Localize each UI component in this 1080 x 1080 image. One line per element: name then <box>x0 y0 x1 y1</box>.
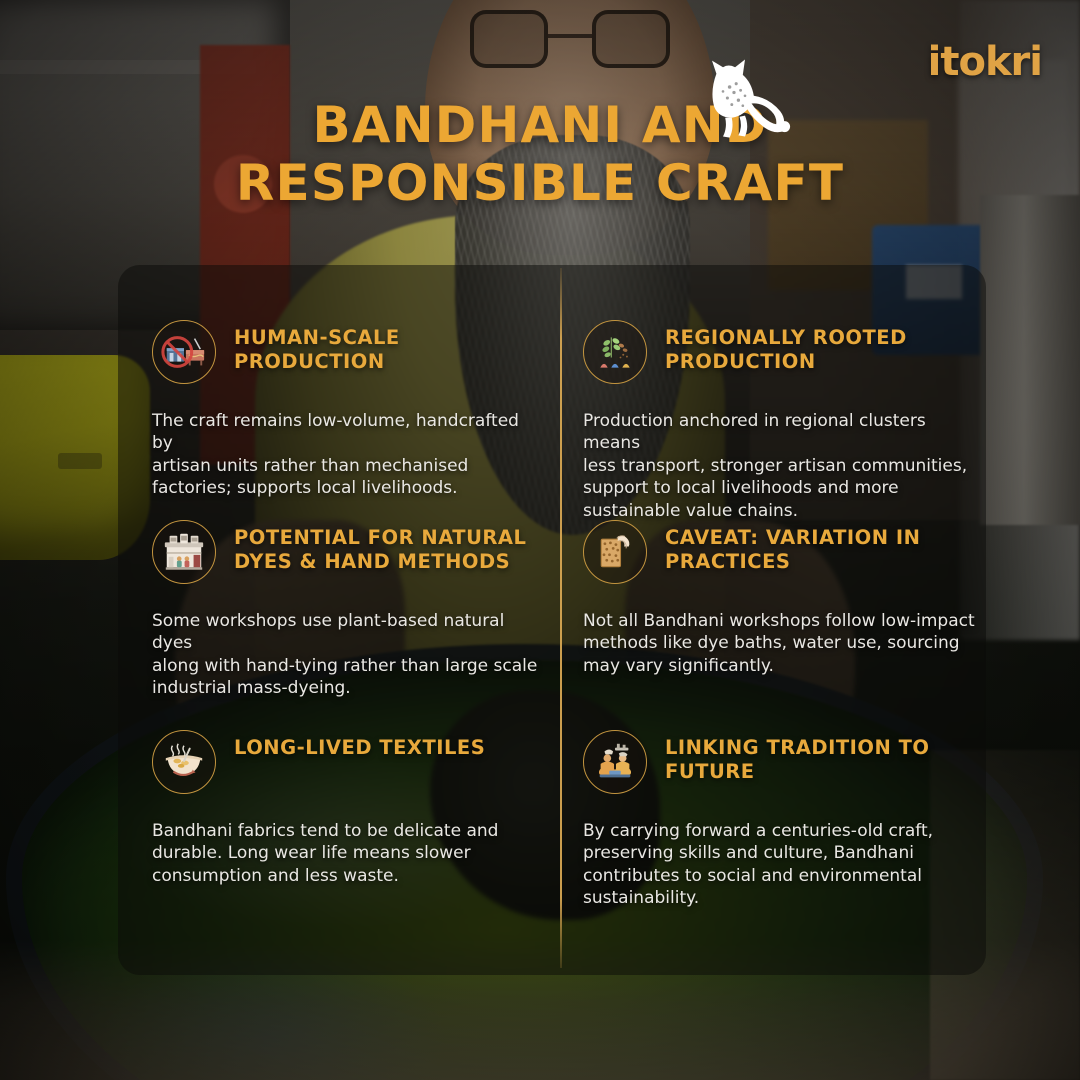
card-natural-dyes-hand-methods[interactable]: POTENTIAL FOR NATURAL DYES & HAND METHOD… <box>152 520 544 700</box>
card-linking-tradition-to-future[interactable]: LINKING TRADITION TO FUTURE By carrying … <box>583 730 995 910</box>
card-header: CAVEAT: VARIATION IN PRACTICES <box>583 520 995 584</box>
card-body: Some workshops use plant-based natural d… <box>152 610 544 700</box>
natural-dye-leaves-icon <box>583 320 647 384</box>
card-header: POTENTIAL FOR NATURAL DYES & HAND METHOD… <box>152 520 544 584</box>
card-title: POTENTIAL FOR NATURAL DYES & HAND METHOD… <box>234 520 544 574</box>
no-factory-icon <box>152 320 216 384</box>
card-body: Production anchored in regional clusters… <box>583 410 983 522</box>
card-body: The craft remains low-volume, handcrafte… <box>152 410 544 500</box>
card-long-lived-textiles[interactable]: LONG-LIVED TEXTILES Bandhani fabrics ten… <box>152 730 498 887</box>
card-title: LONG-LIVED TEXTILES <box>234 730 485 760</box>
hand-holding-fabric-swatch-icon <box>583 520 647 584</box>
card-title: HUMAN-SCALE PRODUCTION <box>234 320 544 374</box>
card-header: LONG-LIVED TEXTILES <box>152 730 498 794</box>
card-body: Bandhani fabrics tend to be delicate and… <box>152 820 498 887</box>
card-header: HUMAN-SCALE PRODUCTION <box>152 320 544 384</box>
card-title: LINKING TRADITION TO FUTURE <box>665 730 995 784</box>
card-body: Not all Bandhani workshops follow low-im… <box>583 610 983 677</box>
cards-grid: HUMAN-SCALE PRODUCTION The craft remains… <box>0 0 1080 1080</box>
card-regionally-rooted-production[interactable]: REGIONALLY ROOTED PRODUCTION Production … <box>583 320 995 522</box>
card-title: REGIONALLY ROOTED PRODUCTION <box>665 320 995 374</box>
card-header: LINKING TRADITION TO FUTURE <box>583 730 995 794</box>
steaming-dye-pot-icon <box>152 730 216 794</box>
card-caveat-variation-in-practices[interactable]: CAVEAT: VARIATION IN PRACTICES Not all B… <box>583 520 995 677</box>
card-body: By carrying forward a centuries-old craf… <box>583 820 983 910</box>
two-artisans-icon <box>583 730 647 794</box>
card-human-scale-production[interactable]: HUMAN-SCALE PRODUCTION The craft remains… <box>152 320 544 500</box>
card-title: CAVEAT: VARIATION IN PRACTICES <box>665 520 995 574</box>
card-header: REGIONALLY ROOTED PRODUCTION <box>583 320 995 384</box>
artisan-workshop-building-icon <box>152 520 216 584</box>
infographic-poster: itokri BANDHANI AND RESPONSIBLE CRAFT <box>0 0 1080 1080</box>
